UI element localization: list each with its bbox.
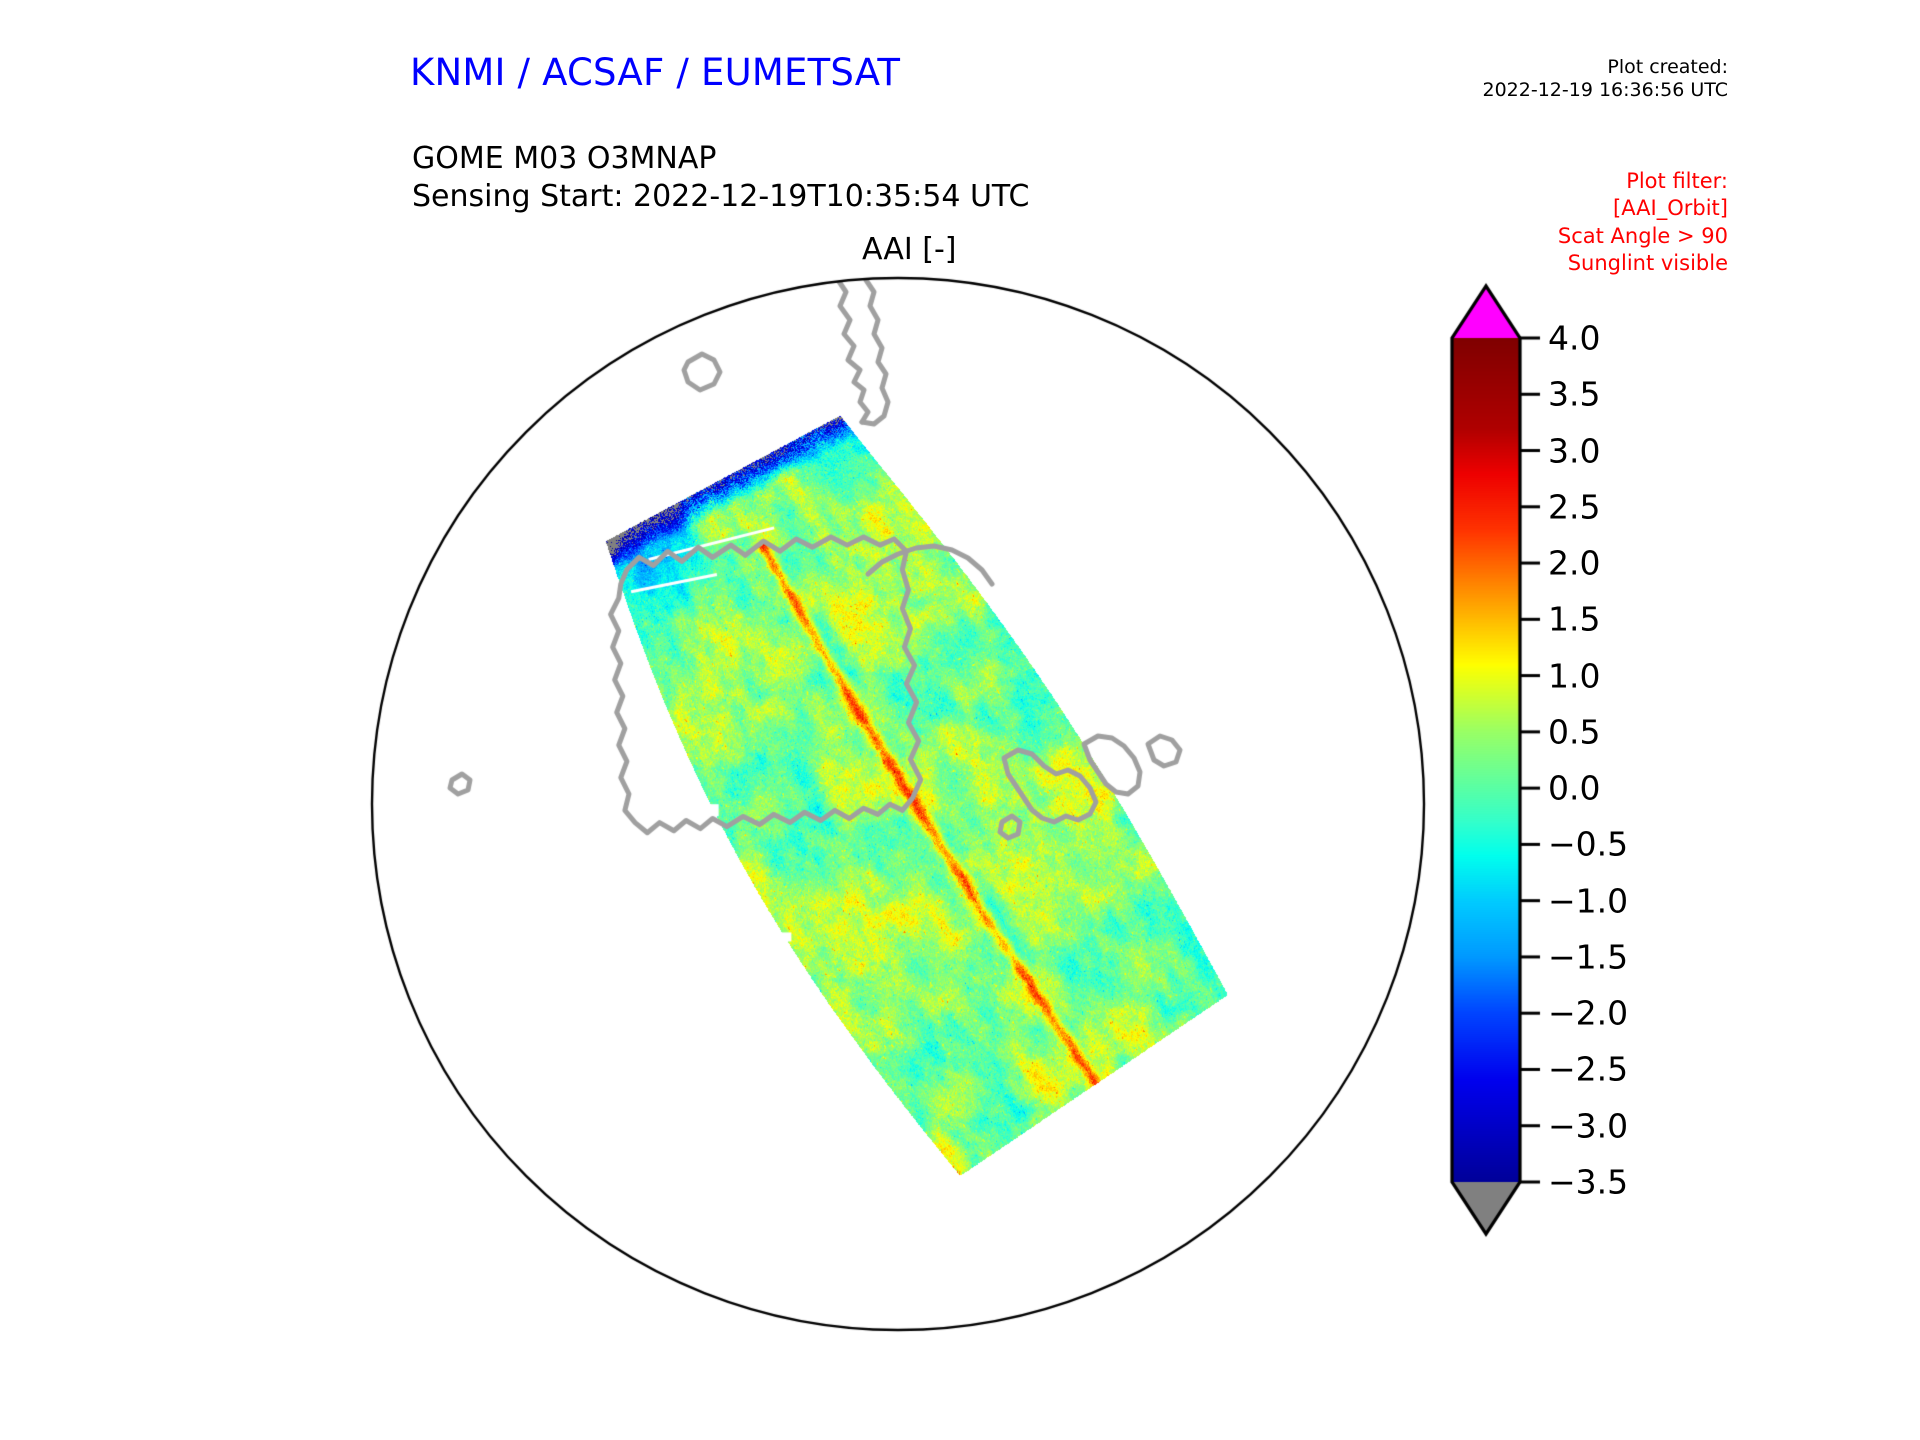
filter-line-1: [AAI_Orbit] bbox=[1558, 195, 1728, 222]
colorbar-tick-11: −1.5 bbox=[1548, 940, 1628, 973]
colorbar-tick-1: 3.5 bbox=[1548, 378, 1600, 411]
colorbar-tick-6: 1.0 bbox=[1548, 659, 1600, 692]
organization-title: KNMI / ACSAF / EUMETSAT bbox=[410, 51, 900, 94]
colorbar-tick-2: 3.0 bbox=[1548, 434, 1600, 467]
colorbar-tick-8: 0.0 bbox=[1548, 772, 1600, 805]
colorbar-tick-0: 4.0 bbox=[1548, 322, 1600, 355]
plot-created-value: 2022-12-19 16:36:56 UTC bbox=[1483, 79, 1729, 102]
plot-filter-block: Plot filter: [AAI_Orbit] Scat Angle > 90… bbox=[1558, 168, 1728, 277]
quantity-subtitle: AAI [-] bbox=[862, 232, 957, 267]
plot-created-block: Plot created: 2022-12-19 16:36:56 UTC bbox=[1483, 56, 1729, 102]
swath-heatmap-canvas bbox=[368, 274, 1428, 1334]
colorbar-tick-14: −3.0 bbox=[1548, 1109, 1628, 1142]
colorbar-tick-10: −1.0 bbox=[1548, 884, 1628, 917]
sensing-start-title: Sensing Start: 2022-12-19T10:35:54 UTC bbox=[412, 178, 1029, 216]
instrument-title: GOME M03 O3MNAP bbox=[412, 140, 1029, 178]
colorbar-tick-12: −2.0 bbox=[1548, 997, 1628, 1030]
filter-line-2: Scat Angle > 90 bbox=[1558, 223, 1728, 250]
plot-title-block: GOME M03 O3MNAP Sensing Start: 2022-12-1… bbox=[412, 140, 1029, 217]
colorbar-tick-13: −2.5 bbox=[1548, 1053, 1628, 1086]
colorbar: 4.03.53.02.52.01.51.00.50.0−0.5−1.0−1.5−… bbox=[1430, 280, 1760, 1300]
colorbar-tick-labels: 4.03.53.02.52.01.51.00.50.0−0.5−1.0−1.5−… bbox=[1548, 280, 1758, 1300]
colorbar-tick-3: 2.5 bbox=[1548, 490, 1600, 523]
colorbar-tick-15: −3.5 bbox=[1548, 1166, 1628, 1199]
filter-line-0: Plot filter: bbox=[1558, 168, 1728, 195]
filter-line-3: Sunglint visible bbox=[1558, 250, 1728, 277]
plot-created-label: Plot created: bbox=[1483, 56, 1729, 79]
colorbar-tick-7: 0.5 bbox=[1548, 715, 1600, 748]
colorbar-tick-5: 1.5 bbox=[1548, 603, 1600, 636]
colorbar-tick-9: −0.5 bbox=[1548, 828, 1628, 861]
colorbar-tick-4: 2.0 bbox=[1548, 547, 1600, 580]
polar-map bbox=[368, 274, 1428, 1334]
